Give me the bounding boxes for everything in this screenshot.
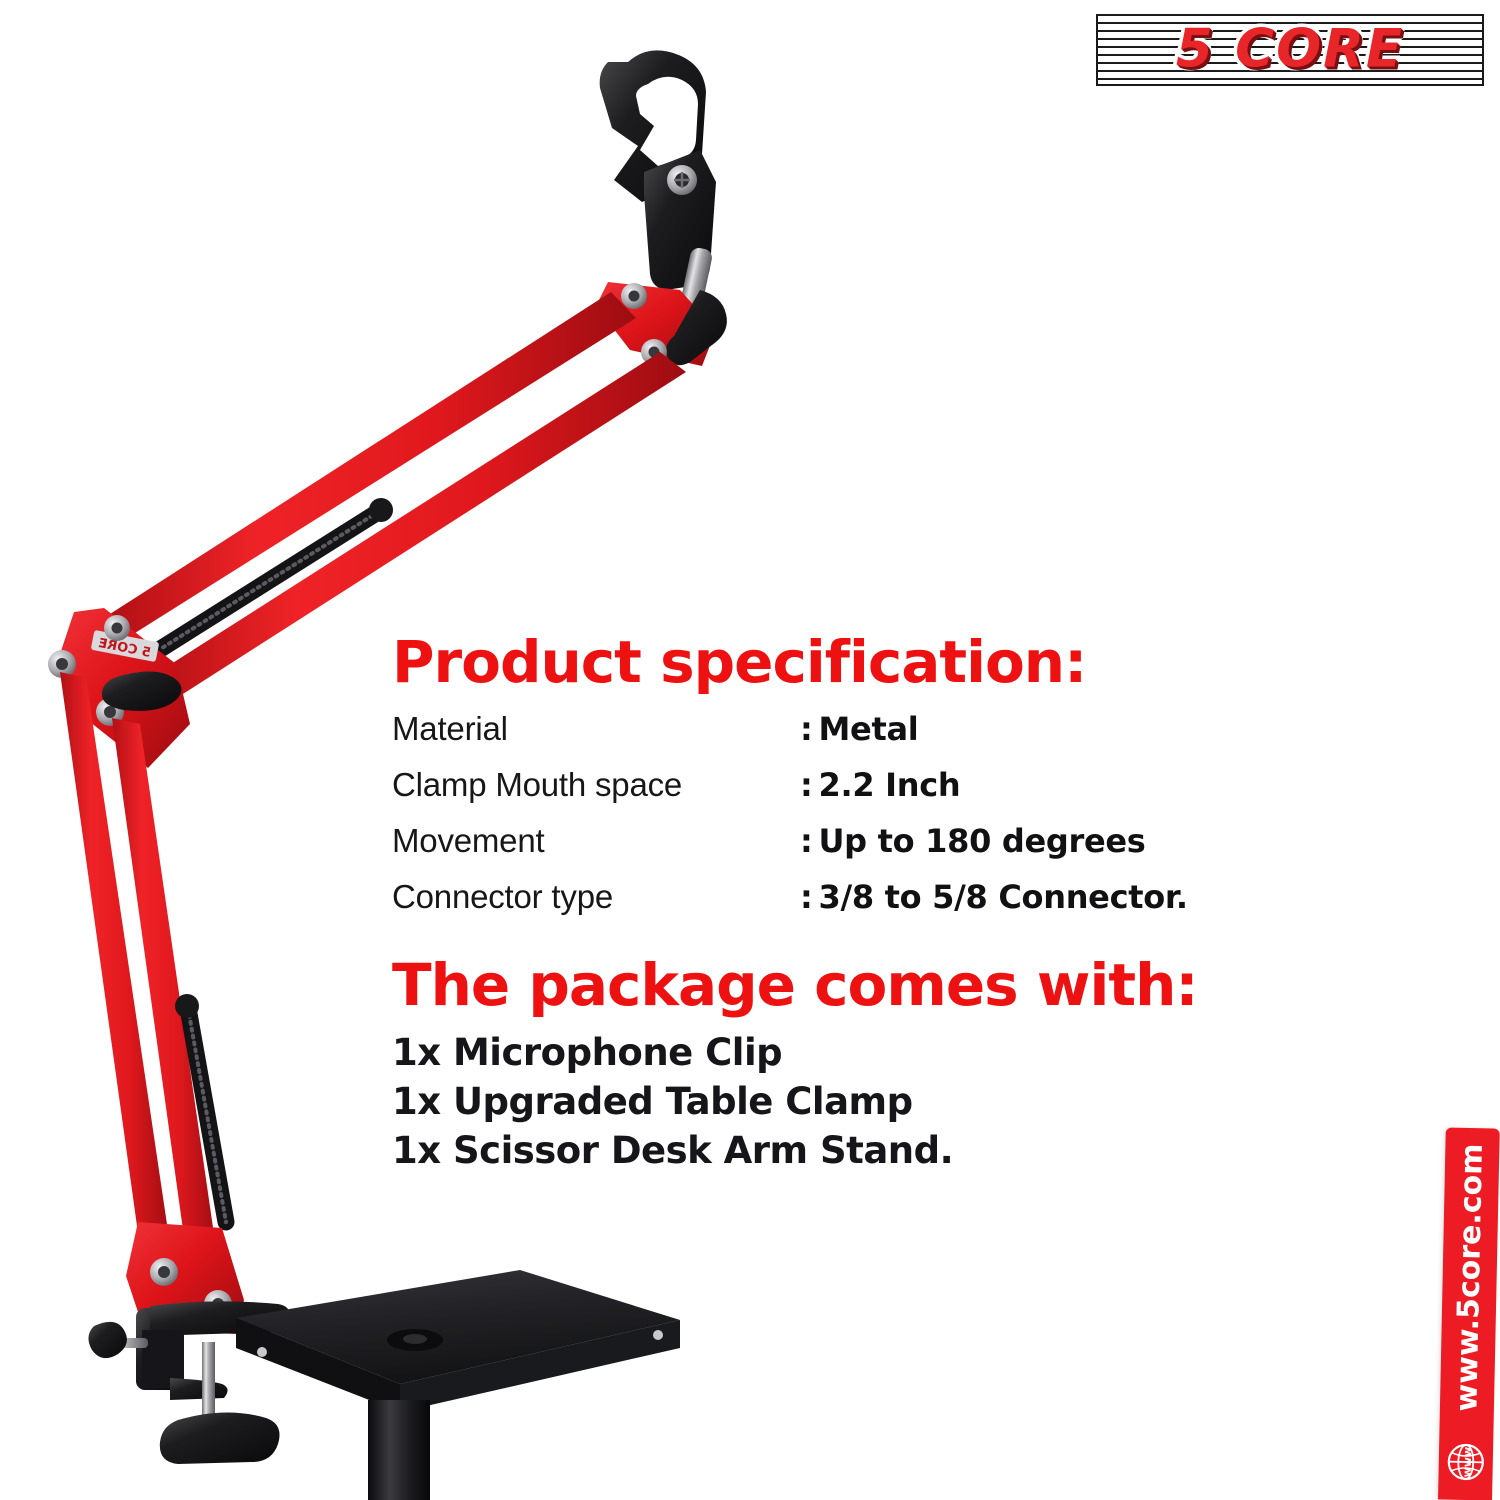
spec-row: Connector type :3/8 to 5/8 Connector. [392,878,1262,934]
list-item: 1x Scissor Desk Arm Stand. [392,1127,1342,1176]
spec-label: Connector type [392,878,800,916]
spec-label: Material [392,710,800,748]
product-specification-heading: Product specification: [392,632,1262,692]
microphone-clip-graphic [600,50,716,305]
spec-value: :Metal [800,710,918,748]
product-specification-section: Product specification: Material :Metal C… [392,632,1262,934]
spec-value: :2.2 Inch [800,766,960,804]
spec-value-text: Up to 180 degrees [819,822,1146,860]
list-item: 1x Upgraded Table Clamp [392,1078,1342,1127]
spec-colon: : [800,766,813,804]
lower-boom-arm-graphic [60,672,226,1266]
spec-row: Clamp Mouth space :2.2 Inch [392,766,1262,822]
spec-value-text: Metal [819,710,919,748]
spec-label: Movement [392,822,800,860]
svg-text:www: www [1460,1447,1474,1478]
package-contents-section: The package comes with: 1x Microphone Cl… [392,955,1342,1176]
spec-label: Clamp Mouth space [392,766,800,804]
stand-pole-graphic [368,1400,430,1500]
desk-platform-graphic [236,1270,680,1500]
package-contents-heading: The package comes with: [392,955,1342,1015]
spec-value-text: 3/8 to 5/8 Connector. [819,878,1188,916]
spec-colon: : [800,710,813,748]
spec-value: :Up to 180 degrees [800,822,1146,860]
website-url-label: www.5core.com [1449,1143,1490,1412]
specification-table: Material :Metal Clamp Mouth space :2.2 I… [392,710,1262,934]
spec-colon: : [800,822,813,860]
website-banner[interactable]: www.5core.com www [1438,1128,1500,1500]
spec-row: Movement :Up to 180 degrees [392,822,1262,878]
spec-value-text: 2.2 Inch [819,766,961,804]
spec-row: Material :Metal [392,710,1262,766]
spec-colon: : [800,878,813,916]
www-globe-icon: www [1445,1442,1486,1483]
product-infographic: { "brand": { "logo_text": "5 CORE", "log… [0,0,1500,1500]
list-item: 1x Microphone Clip [392,1029,1342,1078]
brand-logo: 5 CORE [1096,14,1484,86]
package-contents-list: 1x Microphone Clip 1x Upgraded Table Cla… [392,1029,1342,1175]
logo-wordmark: 5 CORE [1096,18,1484,79]
spec-value: :3/8 to 5/8 Connector. [800,878,1188,916]
